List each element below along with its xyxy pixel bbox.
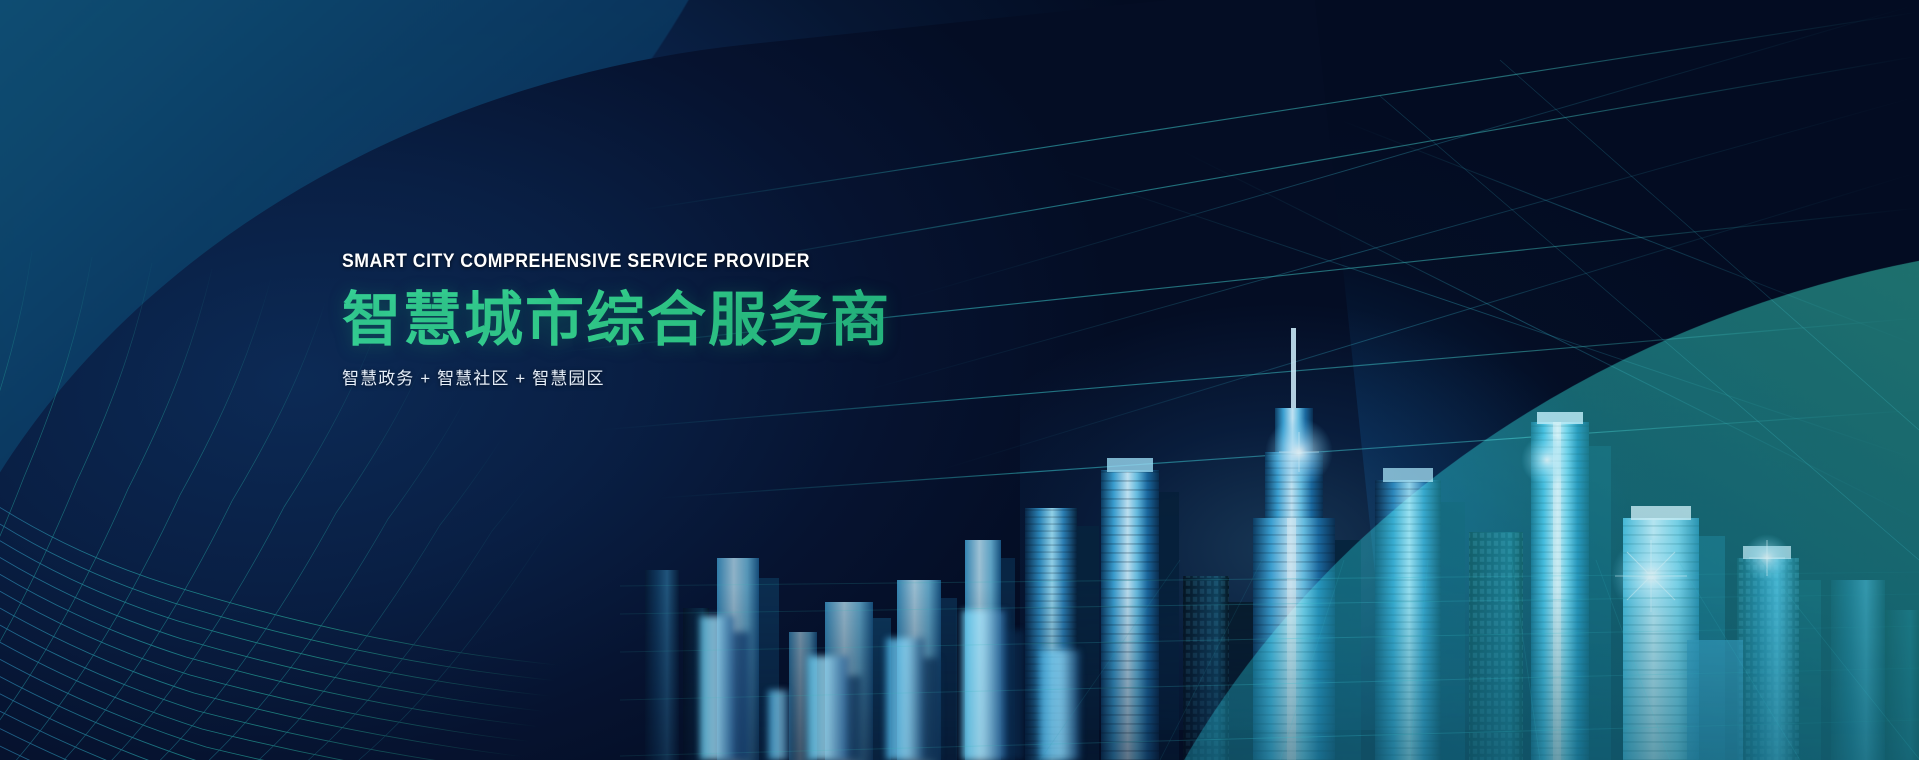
banner-copy-block: SMART CITY COMPREHENSIVE SERVICE PROVIDE… xyxy=(342,252,1062,391)
banner-subline: 智慧政务 + 智慧社区 + 智慧园区 xyxy=(342,367,1062,391)
banner-eyebrow-text: SMART CITY COMPREHENSIVE SERVICE PROVIDE… xyxy=(342,252,1012,273)
smart-city-banner: SMART CITY COMPREHENSIVE SERVICE PROVIDE… xyxy=(0,0,1919,760)
banner-headline: 智慧城市综合服务商 xyxy=(342,287,1062,353)
